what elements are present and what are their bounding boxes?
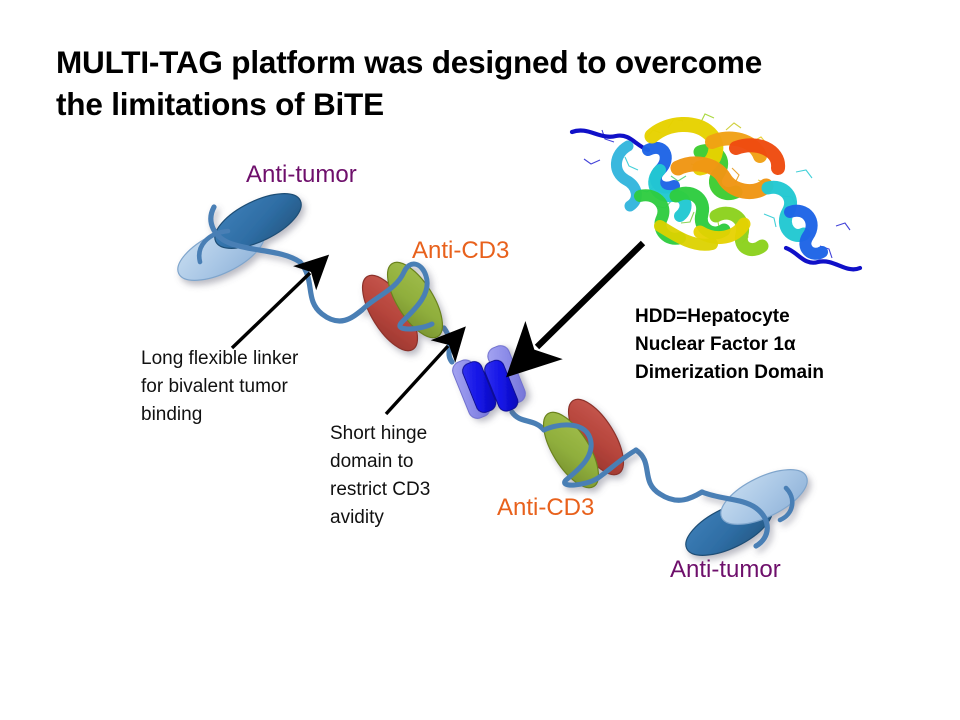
label-anti-tumor-top: Anti-tumor	[246, 162, 357, 187]
domain-anti-cd3-lower	[533, 391, 636, 496]
linker-mid-lower	[512, 412, 544, 430]
annotation-long-flexible-linker: Long flexible linker for bivalent tumor …	[141, 345, 351, 429]
annotation-short-hinge-domain: Short hinge domain to restrict CD3 avidi…	[330, 420, 510, 532]
slide-canvas: MULTI-TAG platform was designed to overc…	[0, 0, 960, 720]
linker-mid-upper	[444, 328, 452, 362]
domain-anti-cd3-upper	[352, 254, 453, 359]
domain-anti-tumor-upper-left	[170, 182, 309, 291]
linker-lower-right	[636, 450, 702, 500]
hdd-arrow	[537, 243, 643, 347]
linker-upper-left	[300, 262, 362, 321]
hinge-arrow	[386, 346, 448, 414]
label-anti-cd3-top: Anti-CD3	[412, 238, 509, 263]
ribbon-helix-cyan-2	[616, 146, 636, 206]
linker-arrow	[232, 273, 310, 348]
annotation-hdd-definition: HDD=Hepatocyte Nuclear Factor 1α Dimeriz…	[635, 303, 885, 387]
domain-hdd-core	[450, 343, 530, 425]
hdd-ribbon-structure	[572, 114, 860, 269]
domain-anti-tumor-lower-right	[678, 458, 815, 566]
label-anti-tumor-bottom: Anti-tumor	[670, 557, 781, 582]
label-anti-cd3-bottom: Anti-CD3	[497, 495, 594, 520]
